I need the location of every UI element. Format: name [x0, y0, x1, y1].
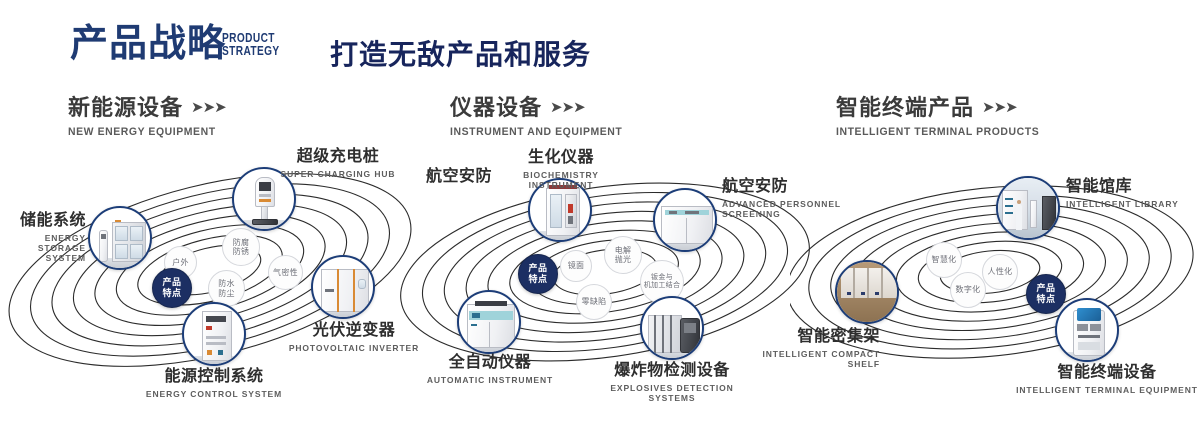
caption-advanced-personnel-screening-left: 航空安防: [396, 168, 492, 186]
caption-en: AUTOMATIC INSTRUMENT: [390, 375, 590, 385]
caption-en: BIOCHEMISTRY INSTRUMENT: [486, 170, 636, 190]
section-heading-instrument: 仪器设备➤➤➤ INSTRUMENT AND EQUIPMENT: [450, 96, 631, 138]
caption-intelligent-terminal-equipment: 智能终端设备 INTELLIGENT TERMINAL EQUIPMENT: [1014, 364, 1200, 395]
section-title-cn-instrument: 仪器设备➤➤➤: [450, 96, 631, 120]
control-cabinet-icon: [184, 304, 244, 364]
page-subtitle: 打造无敌产品和服务: [330, 33, 591, 73]
caption-energy-control-system: 能源控制系统 ENERGY CONTROL SYSTEM: [86, 368, 342, 399]
cluster-new-energy: 户外 防腐 防锈 防水 防尘 气密性 产品 特点 储能系统 ENERGY STO…: [0, 150, 420, 400]
caption-en: INTELLIGENT TERMINAL EQUIPMENT: [1014, 385, 1200, 395]
screening-unit-icon: [655, 190, 715, 250]
auto-analyzer-icon: [459, 292, 519, 352]
section-heading-new-energy: 新能源设备➤➤➤ NEW ENERGY EQUIPMENT: [68, 96, 226, 138]
section-title-en-intelligent: INTELLIGENT TERMINAL PRODUCTS: [836, 126, 1039, 138]
page-header: 产品战略 PRODUCT STRATEGY 打造无敌产品和服务: [0, 0, 1200, 90]
caption-cn: 全自动仪器: [390, 354, 590, 372]
caption-cn: 能源控制系统: [86, 368, 342, 386]
caption-en: ENERGY STORAGE SYSTEM: [0, 233, 86, 263]
library-room-icon: [998, 178, 1058, 238]
section-title-cn-new-energy: 新能源设备➤➤➤: [68, 96, 226, 120]
node-advanced-personnel-screening[interactable]: [653, 188, 717, 252]
caption-cn: 航空安防: [396, 168, 492, 186]
caption-en: INTELLIGENT LIBRARY: [1066, 199, 1196, 209]
caption-en: EXPLOSIVES DETECTION SYSTEMS: [586, 383, 758, 403]
section-title-cn-intelligent: 智能终端产品➤➤➤: [836, 96, 1050, 120]
feature-bubble-2: 电解 抛光: [604, 236, 642, 274]
node-intelligent-compact-shelf[interactable]: [835, 260, 899, 324]
caption-cn: 智能终端设备: [1014, 364, 1200, 382]
feature-bubble-4: 气密性: [268, 255, 303, 290]
feature-bubble-3: 数字化: [950, 272, 986, 308]
caption-cn: 智能密集架: [744, 328, 880, 346]
node-intelligent-library[interactable]: [996, 176, 1060, 240]
chevron-triple-icon: ➤➤➤: [550, 96, 585, 120]
page-title-cn: 产品战略: [70, 25, 226, 63]
explosives-detector-icon: [642, 298, 702, 358]
caption-en: ENERGY CONTROL SYSTEM: [86, 389, 342, 399]
node-photovoltaic-inverter[interactable]: [311, 255, 375, 319]
product-strategy-infographic: 产品战略 PRODUCT STRATEGY 打造无敌产品和服务 新能源设备➤➤➤…: [0, 0, 1200, 422]
caption-intelligent-library: 智能馆库 INTELLIGENT LIBRARY: [1066, 178, 1196, 209]
section-title-en-instrument: INSTRUMENT AND EQUIPMENT: [450, 126, 622, 138]
section-heading-intelligent: 智能终端产品➤➤➤ INTELLIGENT TERMINAL PRODUCTS: [836, 96, 1050, 138]
node-intelligent-terminal-equipment[interactable]: [1055, 298, 1119, 362]
compact-shelf-icon: [837, 262, 897, 322]
feature-bubble-1: 镜面: [560, 250, 592, 282]
caption-energy-storage-system: 储能系统 ENERGY STORAGE SYSTEM: [0, 212, 86, 263]
node-automatic-instrument[interactable]: [457, 290, 521, 354]
node-explosives-detection-systems[interactable]: [640, 296, 704, 360]
caption-automatic-instrument: 全自动仪器 AUTOMATIC INSTRUMENT: [390, 354, 590, 385]
node-energy-storage-system[interactable]: [88, 206, 152, 270]
caption-en: INTELLIGENT COMPACT SHELF: [744, 349, 880, 369]
core-badge-product-features: 产品 特点: [152, 268, 192, 308]
chevron-triple-icon: ➤➤➤: [982, 96, 1017, 120]
cluster-intelligent-terminal: 智慧化 人性化 数字化 产品 特点 智能馆库 INTELLIGENT LIBRA…: [790, 150, 1200, 400]
battery-cabinet-icon: [90, 208, 150, 268]
core-badge-product-features: 产品 特点: [518, 254, 558, 294]
caption-cn: 爆炸物检测设备: [586, 362, 758, 380]
node-energy-control-system[interactable]: [182, 302, 246, 366]
caption-cn: 生化仪器: [486, 149, 636, 167]
page-title-en: PRODUCT STRATEGY: [222, 31, 280, 57]
caption-biochemistry-instrument: 生化仪器 BIOCHEMISTRY INSTRUMENT: [486, 149, 636, 190]
inverter-cabinet-icon: [313, 257, 373, 317]
caption-cn: 储能系统: [0, 212, 86, 230]
feature-bubble-2: 防腐 防锈: [222, 228, 260, 266]
section-title-en-new-energy: NEW ENERGY EQUIPMENT: [68, 126, 218, 138]
feature-bubble-1: 智慧化: [926, 242, 962, 278]
caption-cn: 智能馆库: [1066, 178, 1196, 196]
feature-bubble-2: 人性化: [982, 254, 1018, 290]
feature-bubble-3: 零缺陷: [576, 284, 612, 320]
caption-intelligent-compact-shelf: 智能密集架 INTELLIGENT COMPACT SHELF: [744, 328, 880, 369]
caption-explosives-detection-systems: 爆炸物检测设备 EXPLOSIVES DETECTION SYSTEMS: [586, 362, 758, 403]
kiosk-terminal-icon: [1057, 300, 1117, 360]
chevron-triple-icon: ➤➤➤: [191, 96, 226, 120]
